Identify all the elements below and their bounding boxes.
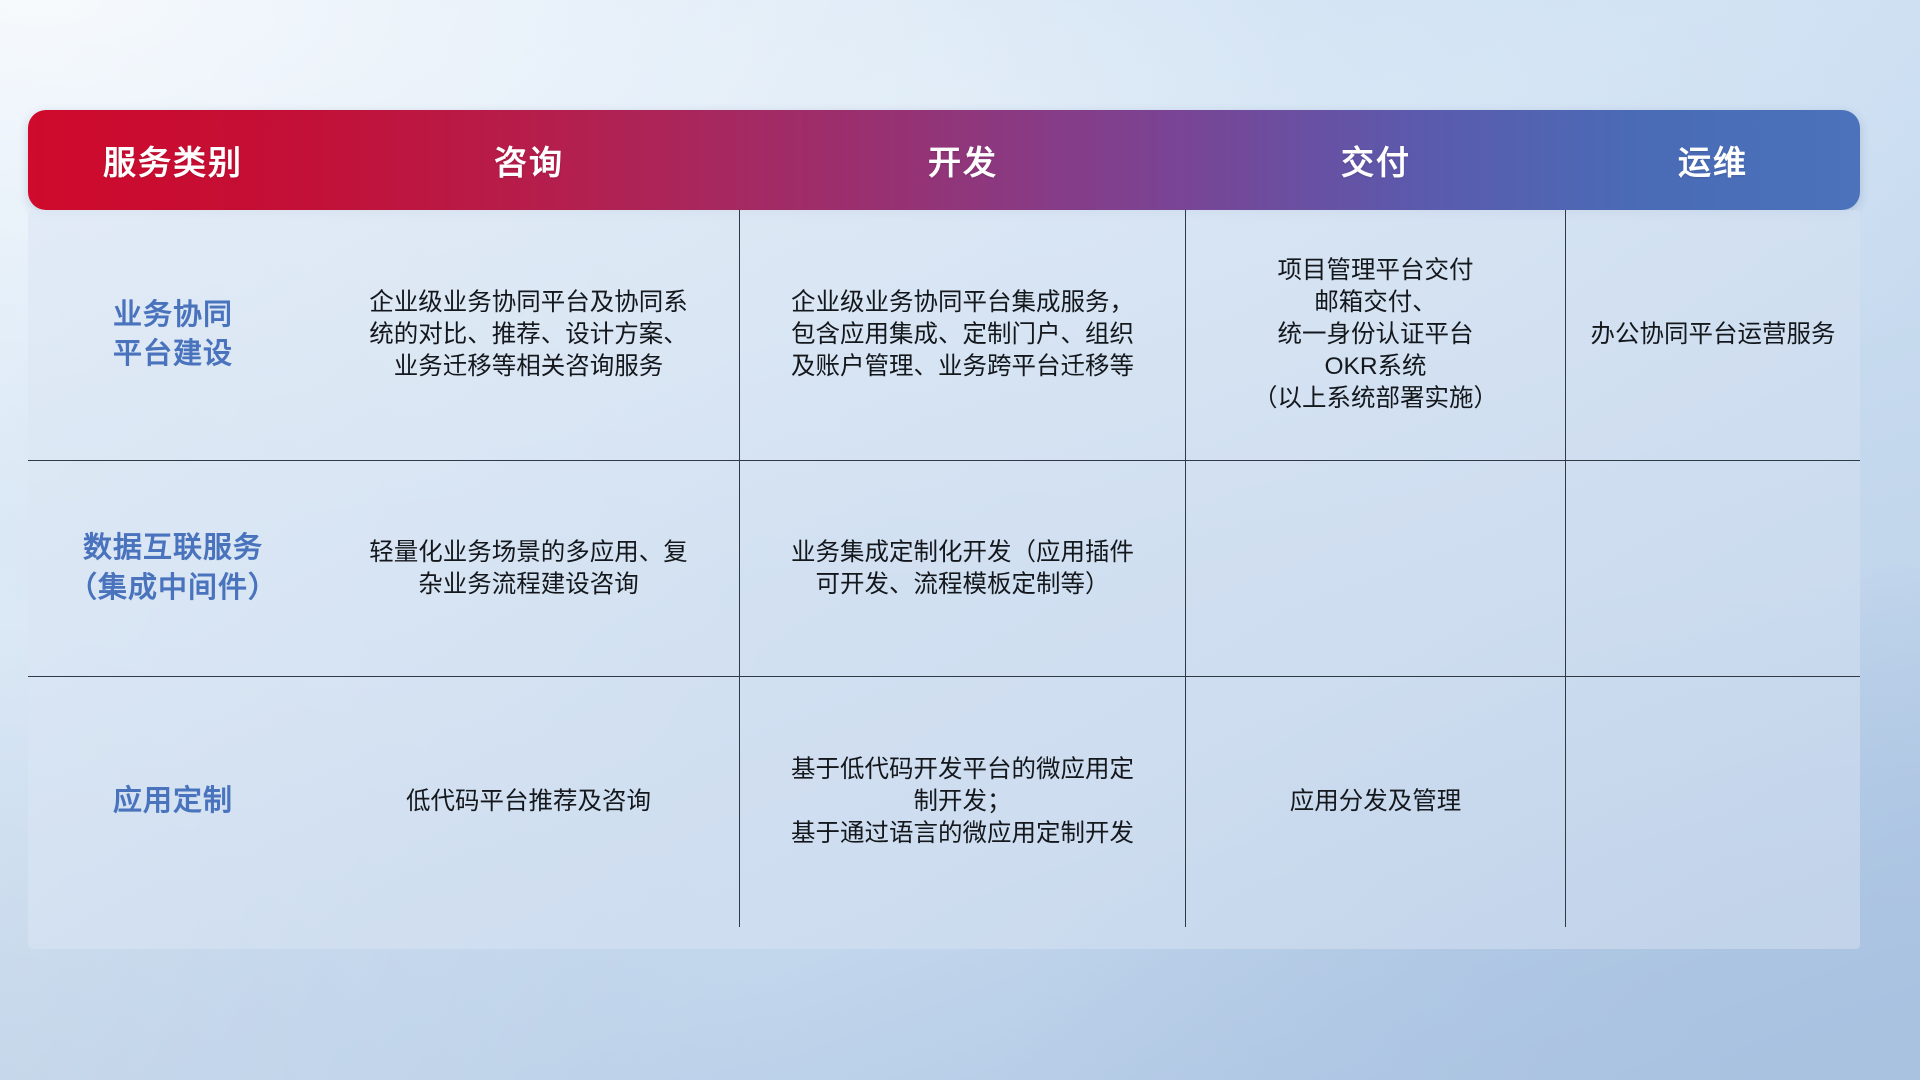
- cell-consulting: 低代码平台推荐及咨询: [318, 677, 740, 927]
- table-row: 数据互联服务 （集成中间件） 轻量化业务场景的多应用、复 杂业务流程建设咨询 业…: [28, 460, 1860, 676]
- service-matrix-table: 服务类别 咨询 开发 交付 运维 业务协同 平台建设 企业级业务协同平台及协同系…: [28, 110, 1860, 949]
- column-header-delivery: 交付: [1186, 110, 1566, 210]
- cell-delivery: 项目管理平台交付 邮箱交付、 统一身份认证平台 OKR系统 （以上系统部署实施）: [1186, 210, 1566, 460]
- table-header-row: 服务类别 咨询 开发 交付 运维: [28, 110, 1860, 210]
- column-header-development: 开发: [740, 110, 1186, 210]
- table-body: 业务协同 平台建设 企业级业务协同平台及协同系 统的对比、推荐、设计方案、 业务…: [28, 210, 1860, 949]
- table-row: 应用定制 低代码平台推荐及咨询 基于低代码开发平台的微应用定 制开发； 基于通过…: [28, 676, 1860, 927]
- column-header-category: 服务类别: [28, 110, 318, 210]
- column-header-consulting: 咨询: [318, 110, 740, 210]
- cell-consulting: 企业级业务协同平台及协同系 统的对比、推荐、设计方案、 业务迁移等相关咨询服务: [318, 210, 740, 460]
- cell-delivery: [1186, 461, 1566, 676]
- row-category-label: 应用定制: [28, 677, 318, 927]
- cell-development: 基于低代码开发平台的微应用定 制开发； 基于通过语言的微应用定制开发: [740, 677, 1186, 927]
- row-category-label: 业务协同 平台建设: [28, 210, 318, 460]
- column-header-operations: 运维: [1566, 110, 1860, 210]
- row-category-label: 数据互联服务 （集成中间件）: [28, 461, 318, 676]
- cell-operations: 办公协同平台运营服务: [1566, 210, 1860, 460]
- cell-operations: [1566, 677, 1860, 927]
- cell-development: 企业级业务协同平台集成服务， 包含应用集成、定制门户、组织 及账户管理、业务跨平…: [740, 210, 1186, 460]
- cell-operations: [1566, 461, 1860, 676]
- cell-consulting: 轻量化业务场景的多应用、复 杂业务流程建设咨询: [318, 461, 740, 676]
- cell-development: 业务集成定制化开发（应用插件 可开发、流程模板定制等）: [740, 461, 1186, 676]
- cell-delivery: 应用分发及管理: [1186, 677, 1566, 927]
- table-row: 业务协同 平台建设 企业级业务协同平台及协同系 统的对比、推荐、设计方案、 业务…: [28, 210, 1860, 460]
